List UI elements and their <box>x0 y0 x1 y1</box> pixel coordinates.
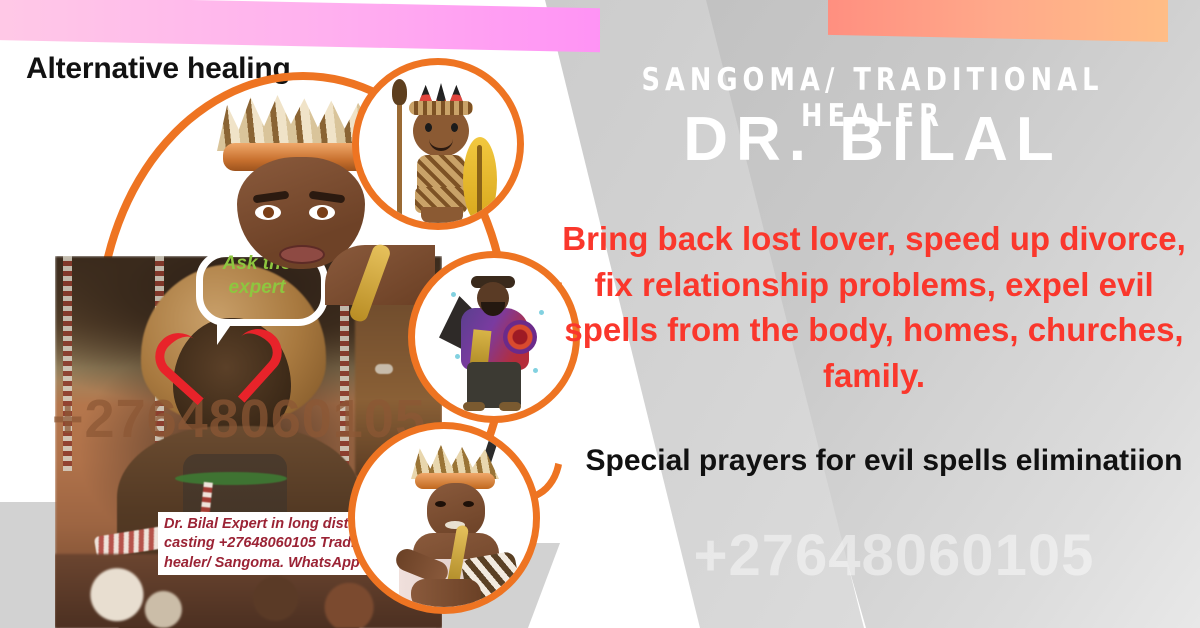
sparkle-1 <box>451 292 456 297</box>
sandal-right <box>499 402 521 411</box>
sparkle-3 <box>455 354 460 359</box>
ghost-phone-number: +27648060105 <box>579 522 1200 589</box>
green-bead-necklace <box>175 472 287 485</box>
fur-headband <box>409 101 473 115</box>
special-offer-text: Special prayers for evil spells eliminat… <box>579 440 1189 483</box>
doctor-name: DR. BILAL <box>545 104 1200 175</box>
right-text-column: SANGOMA/ TRADITIONAL HEALER DR. BILAL Br… <box>545 0 1200 628</box>
circle-zulu-warrior-child <box>352 58 524 230</box>
shield-stripe <box>477 145 482 215</box>
child-eye-right <box>451 123 458 132</box>
warrior-eye-right <box>463 501 474 507</box>
pupil-right <box>317 207 328 218</box>
child-eye-left <box>425 123 432 132</box>
grey-bottom-left-strip <box>0 502 60 628</box>
warrior-leg <box>411 579 481 609</box>
sparkle-2 <box>539 310 544 315</box>
spear-shaft-icon <box>397 87 402 217</box>
circle-crouching-warrior <box>348 422 540 614</box>
magic-swirl-icon <box>503 320 537 354</box>
sandal-left <box>463 402 485 411</box>
top-pink-gradient-bar <box>0 0 600 52</box>
sparkle-4 <box>533 368 538 373</box>
mouth <box>279 245 325 264</box>
poster-canvas: Alternative healing +27648060105 Ask the… <box>0 0 1200 628</box>
heart-icon <box>194 331 284 415</box>
child-legs <box>421 207 463 223</box>
spear-head-icon <box>392 79 407 105</box>
warrior-eye-left <box>435 501 446 507</box>
pupil-left <box>263 207 274 218</box>
door-knob <box>375 364 393 374</box>
services-text: Bring back lost lover, speed up divorce,… <box>559 216 1189 398</box>
